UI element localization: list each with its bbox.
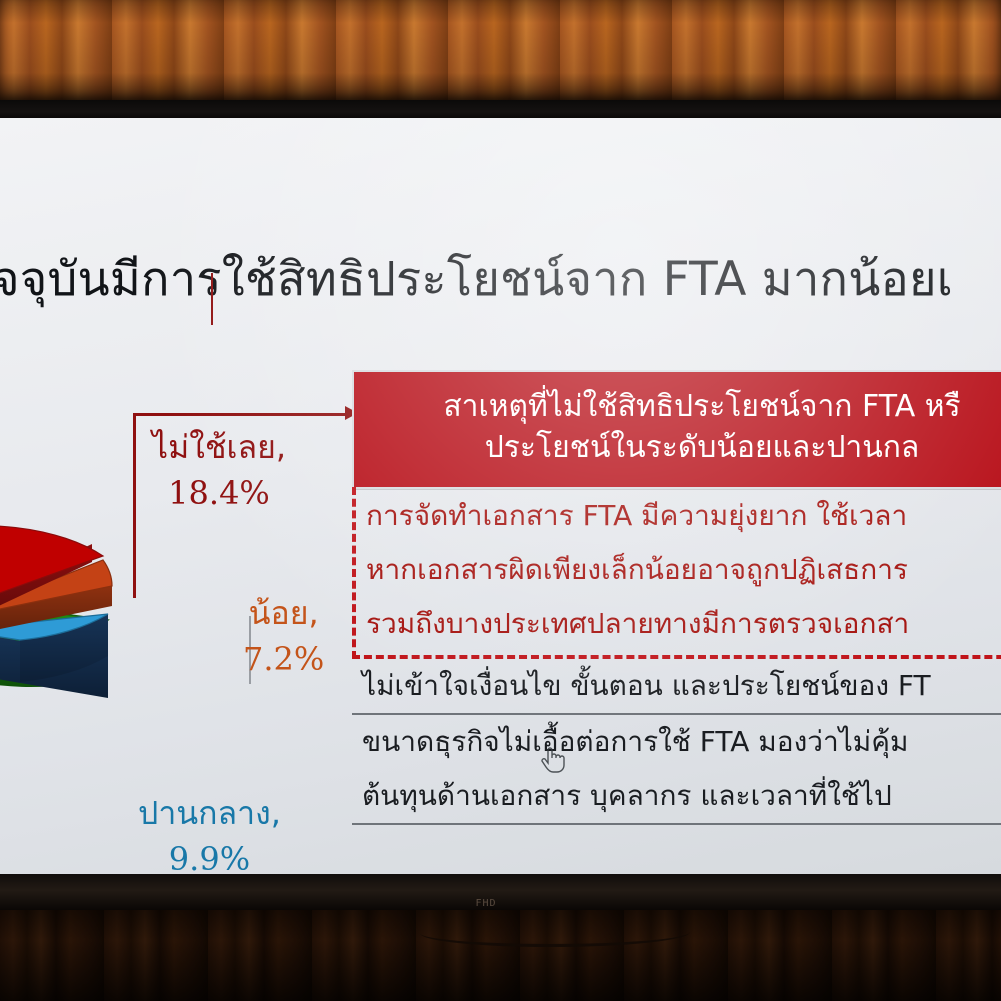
wood-wall-upper bbox=[0, 0, 1001, 104]
table-row[interactable]: ต้นทุนด้านเอกสาร บุคลากร และเวลาที่ใช้ไป bbox=[352, 769, 1001, 825]
reasons-header-line-2: ประโยชน์ในระดับน้อยและปานกล bbox=[364, 427, 1001, 468]
reasons-header: สาเหตุที่ไม่ใช้สิทธิประโยชน์จาก FTA หรื … bbox=[352, 370, 1001, 489]
presentation-slide[interactable]: ปัจจุบันมีการใช้สิทธิประโยชน์จาก FTA มาก… bbox=[0, 118, 1001, 878]
pie-label-medium-name: ปานกลาง, bbox=[138, 790, 281, 836]
table-row[interactable]: การจัดทำเอกสาร FTA มีความยุ่งยาก ใช้เวลา bbox=[356, 489, 1001, 543]
wood-wall-lower bbox=[0, 900, 1001, 1001]
reasons-table[interactable]: สาเหตุที่ไม่ใช้สิทธิประโยชน์จาก FTA หรื … bbox=[352, 370, 1001, 825]
leader-line-none bbox=[211, 273, 213, 325]
pie-label-none: ไม่ใช้เลย, 18.4% bbox=[152, 424, 286, 517]
pie-label-medium-value: 9.9% bbox=[138, 836, 281, 878]
pie-label-low-value: 7.2% bbox=[243, 636, 324, 682]
pie-label-none-value: 18.4% bbox=[152, 470, 286, 516]
page-title: ปัจจุบันมีการใช้สิทธิประโยชน์จาก FTA มาก… bbox=[0, 256, 1001, 303]
monitor-brand-mark: FHD bbox=[466, 898, 506, 911]
pie-label-low: น้อย, 7.2% bbox=[243, 590, 324, 683]
pie-label-medium: ปานกลาง, 9.9% bbox=[138, 790, 281, 878]
pie-label-none-name: ไม่ใช้เลย, bbox=[152, 424, 286, 470]
reasons-highlighted-group: การจัดทำเอกสาร FTA มีความยุ่งยาก ใช้เวลา… bbox=[352, 487, 1001, 659]
table-row[interactable]: ขนาดธุรกิจไม่เอื้อต่อการใช้ FTA มองว่าไม… bbox=[352, 715, 1001, 769]
table-row[interactable]: หากเอกสารผิดเพียงเล็กน้อยอาจถูกปฏิเสธการ bbox=[356, 543, 1001, 597]
table-row[interactable]: รวมถึงบางประเทศปลายทางมีการตรวจเอกสา bbox=[356, 597, 1001, 651]
table-row[interactable]: ไม่เข้าใจเงื่อนไข ขั้นตอน และประโยชน์ของ… bbox=[352, 659, 1001, 715]
pie-label-low-name: น้อย, bbox=[243, 590, 324, 636]
reasons-header-line-1: สาเหตุที่ไม่ใช้สิทธิประโยชน์จาก FTA หรื bbox=[364, 386, 1001, 427]
